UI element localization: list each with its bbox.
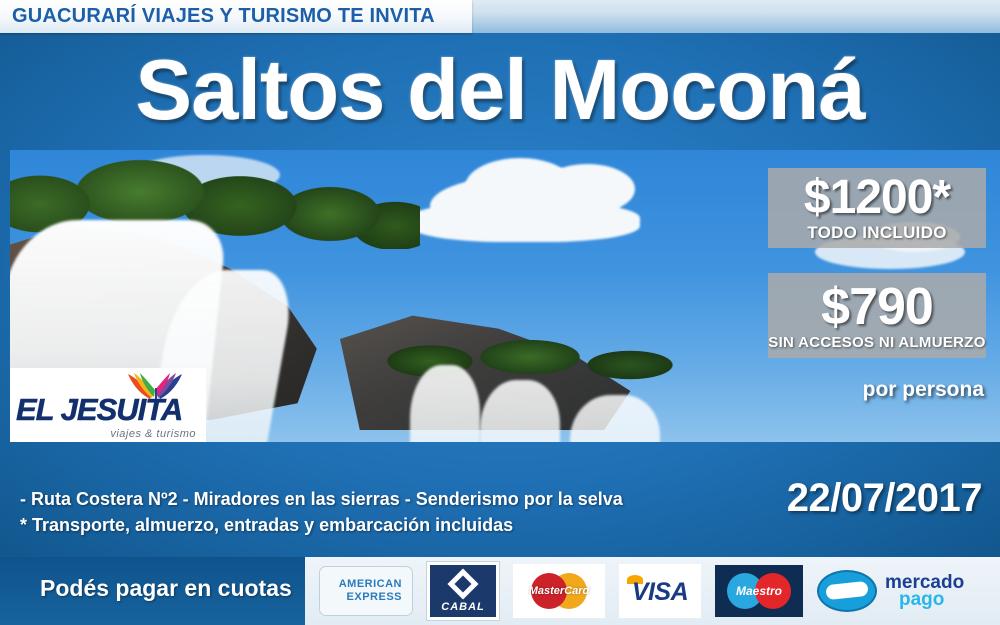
amex-line2: EXPRESS	[330, 591, 402, 604]
visa-wordmark: VISA	[619, 578, 701, 607]
mastercard-logo: MasterCard	[513, 564, 605, 618]
cabal-wordmark: CABAL	[441, 601, 485, 613]
cloud-icon	[410, 202, 640, 242]
detail-line: * Transporte, almuerzo, entradas y embar…	[20, 512, 623, 538]
promo-poster: GUACURARÍ VIAJES Y TURISMO TE INVITA Sal…	[0, 0, 1000, 625]
logo-tagline: viajes & turismo	[110, 428, 196, 440]
trip-date: 22/07/2017	[787, 476, 982, 521]
mercado-pago-logo: mercado pago	[817, 570, 964, 612]
page-title: Saltos del Moconá	[0, 47, 1000, 135]
payment-bar: Podés pagar en cuotas AMERICAN EXPRESS C…	[0, 557, 1000, 625]
price-amount: $790	[821, 281, 933, 333]
detail-line: - Ruta Costera Nº2 - Miradores en las si…	[20, 486, 623, 512]
mercado-pago-wordmark: mercado pago	[885, 574, 964, 608]
mastercard-wordmark: MasterCard	[513, 585, 605, 597]
logo-wordmark: EL JESUITA	[16, 392, 182, 428]
amex-line1: AMERICAN	[330, 578, 402, 591]
amex-logo: AMERICAN EXPRESS	[319, 566, 413, 616]
handshake-icon	[817, 570, 877, 612]
diamond-icon	[447, 568, 478, 599]
price-amount: $1200*	[804, 174, 950, 222]
price-note: SIN ACCESOS NI ALMUERZO	[768, 334, 985, 351]
visa-logo: VISA	[619, 564, 701, 618]
price-note: TODO INCLUIDO	[807, 223, 947, 243]
payment-methods-panel: AMERICAN EXPRESS CABAL MasterCard VISA M…	[305, 557, 1000, 625]
trip-details: - Ruta Costera Nº2 - Miradores en las si…	[20, 486, 623, 538]
invite-text: GUACURARÍ VIAJES Y TURISMO TE INVITA	[0, 5, 435, 28]
header-strip	[472, 0, 1000, 33]
waterfall-layer	[410, 365, 480, 442]
installments-label: Podés pagar en cuotas	[40, 575, 292, 602]
cabal-logo: CABAL	[427, 562, 499, 620]
mercado-pago-line2: pago	[885, 591, 964, 608]
maestro-logo: Maestro	[715, 565, 803, 617]
company-logo: EL JESUITA viajes & turismo	[10, 368, 206, 442]
per-person-label: por persona	[863, 378, 984, 402]
invite-banner: GUACURARÍ VIAJES Y TURISMO TE INVITA	[0, 0, 472, 33]
price-box-full: $1200* TODO INCLUIDO	[768, 168, 986, 248]
handshake-hands-shape	[825, 581, 868, 600]
maestro-wordmark: Maestro	[715, 584, 803, 598]
price-box-basic: $790 SIN ACCESOS NI ALMUERZO	[768, 273, 986, 358]
